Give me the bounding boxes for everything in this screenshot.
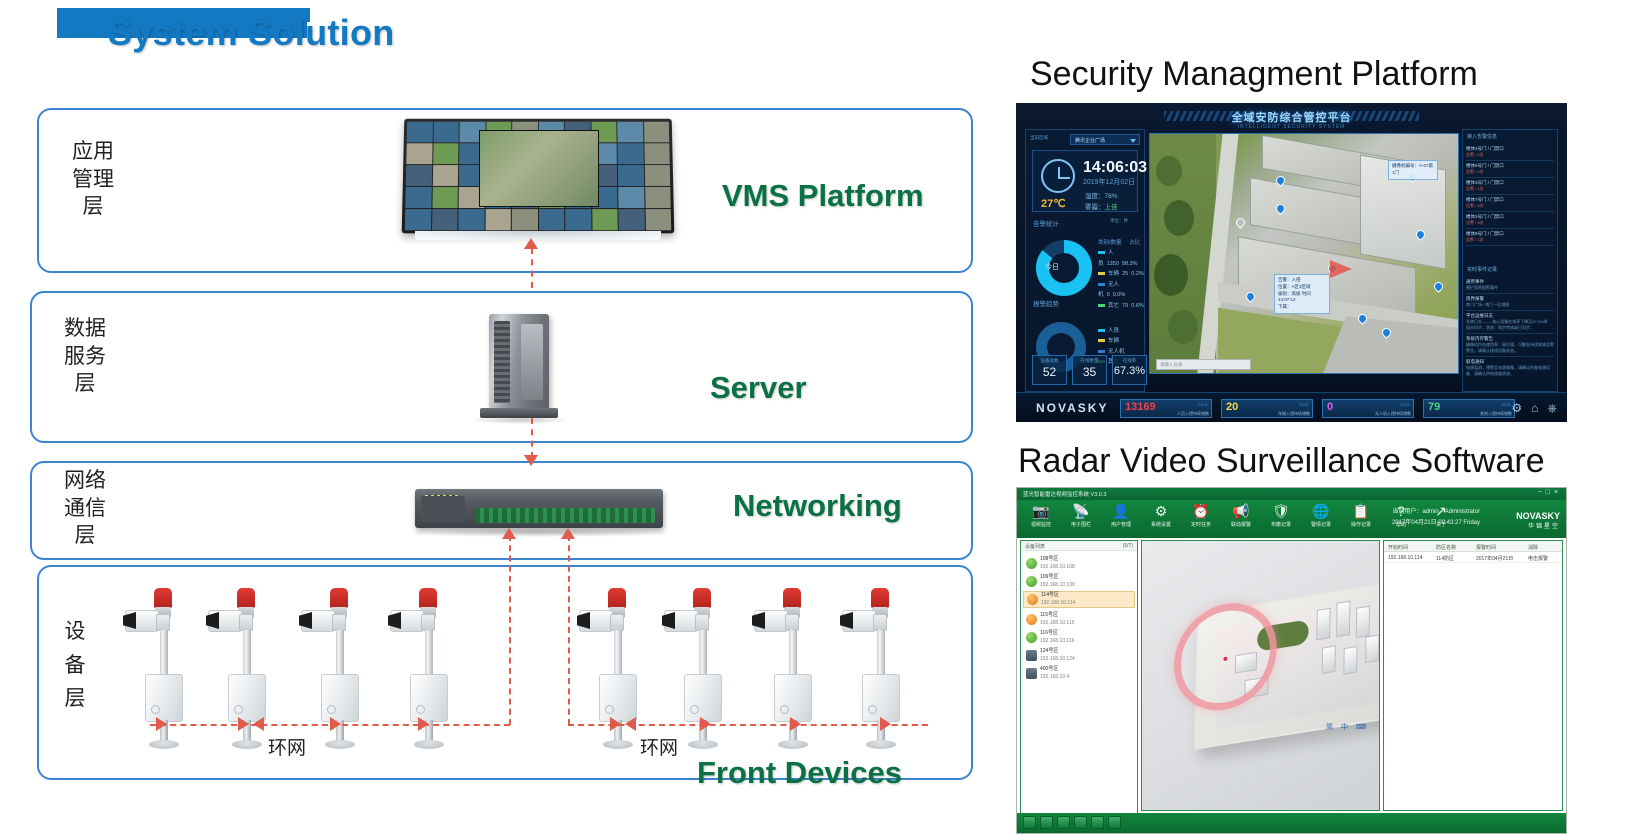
device-tree-count: (5/7) bbox=[1123, 543, 1133, 549]
toolbar-user-management[interactable]: 👤 用户管理 bbox=[1101, 503, 1141, 528]
rvs-user-info: 当前用户：admin，Administrator 2017年04月21日 09:… bbox=[1392, 507, 1480, 530]
smp-temperature: 27℃ bbox=[1041, 197, 1066, 210]
camera-mount bbox=[156, 614, 170, 631]
smp-humidity: 湿度：78% bbox=[1085, 190, 1118, 200]
smp-air-label: 雾霾： bbox=[1085, 204, 1105, 211]
camera-pole-upper bbox=[243, 630, 251, 677]
arrow-right-ring-left-b bbox=[156, 717, 167, 731]
device-offline-icon bbox=[1026, 650, 1037, 661]
stat-online-rate: 在线率 67.3% bbox=[1112, 355, 1147, 385]
alarm-beacon-icon bbox=[608, 588, 626, 608]
camera-mount bbox=[239, 614, 253, 631]
legend-item: 其它 79 0.6% bbox=[1098, 301, 1144, 311]
device-tree-row-selected[interactable]: 114号区192.168.10.114 bbox=[1023, 591, 1135, 608]
switch-port-row bbox=[475, 508, 655, 523]
arrow-right-ring-left-c bbox=[330, 717, 341, 731]
security-management-platform-heading: Security Managment Platform bbox=[1030, 55, 1478, 94]
device-tree-row[interactable]: 108号区192.168.10.108 bbox=[1023, 555, 1135, 572]
map-tree bbox=[1164, 200, 1194, 236]
alarm-beacon-icon bbox=[693, 588, 711, 608]
smp-clock-panel: 14:06:03 2019年12月02日 27℃ 湿度：78% 雾霾：上佳 bbox=[1032, 150, 1138, 212]
camera-mount bbox=[610, 614, 624, 631]
smp-region-label: 当前区域 bbox=[1030, 135, 1048, 141]
event-row[interactable]: 周界报警 南门广场 / 南门一区域图 bbox=[1466, 294, 1554, 311]
col-start-time: 开始时间 bbox=[1384, 541, 1432, 551]
device-tree-row[interactable]: 109号区192.168.10.109 bbox=[1023, 573, 1135, 590]
alert-row[interactable]: 楼体2号门 / 门禁口 告警 / 3次 bbox=[1466, 212, 1554, 229]
model-block bbox=[1322, 645, 1336, 674]
arrow-left-ring-right-a bbox=[625, 717, 636, 731]
status-button[interactable] bbox=[1023, 816, 1036, 829]
alert-row[interactable]: 楼体3号门 / 门禁口 告警 / 1次 bbox=[1466, 178, 1554, 195]
alert-row[interactable]: 楼体7号门 / 门禁口 告警 / 6次 bbox=[1466, 195, 1554, 212]
connector-switch-left-branch bbox=[509, 535, 511, 725]
stat-online-devices: 在线数量 35 bbox=[1072, 355, 1107, 385]
camera-pole bbox=[840, 588, 904, 753]
smp-region-dropdown[interactable]: 腾讯企业广场 bbox=[1070, 134, 1140, 145]
camera-control-box bbox=[684, 674, 722, 722]
camera-base bbox=[603, 740, 633, 749]
report-icon: 📋 bbox=[1341, 503, 1381, 519]
server-label: Server bbox=[710, 370, 807, 406]
camera-pole-upper bbox=[789, 630, 797, 677]
toolbar-scheduled-task[interactable]: ⏰ 定时任务 bbox=[1181, 503, 1221, 528]
status-bar-buttons[interactable] bbox=[1023, 816, 1121, 829]
device-offline-icon bbox=[1026, 668, 1037, 679]
connector-app-to-data bbox=[531, 248, 533, 288]
toolbar-operation-log[interactable]: 📋 操作记录 bbox=[1341, 503, 1381, 528]
radar-icon: 📡 bbox=[1061, 503, 1101, 519]
server-image bbox=[489, 314, 549, 410]
arrow-right-ring-right-c bbox=[790, 717, 801, 731]
toolbar-system-settings[interactable]: ⚙ 系统设置 bbox=[1141, 503, 1181, 528]
data-layer-label: 数据 服务 层 bbox=[52, 315, 118, 398]
alarm-beacon-icon bbox=[783, 588, 801, 608]
rvs-current-datetime: 2017年04月21日 09:43:27 Friday bbox=[1392, 518, 1480, 529]
ime-indicator: 简 中 ⌨ bbox=[1326, 722, 1369, 732]
server-shadow bbox=[470, 416, 570, 424]
smp-footer-bar: NOVASKY 13169 000 人员入侵持续增数 20 000 车辆入侵持续… bbox=[1016, 392, 1567, 422]
alarm-beacon-icon bbox=[237, 588, 255, 608]
model-block bbox=[1316, 608, 1330, 641]
rvs-status-bar bbox=[1017, 813, 1566, 833]
rvs-brand-cn: 华锦星空 bbox=[1516, 523, 1560, 531]
rvs-current-user: 当前用户：admin，Administrator bbox=[1392, 507, 1480, 518]
gear-icon[interactable]: ⚙ bbox=[1511, 401, 1522, 416]
legend-item: 无人机 0 0.0% bbox=[1098, 280, 1144, 301]
toolbar-alarm-log[interactable]: 🌐 警情记录 bbox=[1301, 503, 1341, 528]
smp-alert-list: 楼体4号门 / 门禁口 告警 / 4次 楼体5号门 / 门禁口 告警 / 2次 … bbox=[1466, 144, 1554, 246]
status-button[interactable] bbox=[1091, 816, 1104, 829]
rvs-window-title: 蓝光智能雷达视频监控系统 V3.0.3 bbox=[1023, 490, 1106, 498]
3d-building-model bbox=[1164, 540, 1380, 780]
network-layer-label: 网络 通信 层 bbox=[52, 467, 118, 550]
smp-event-panel-title: 实时事件记录 bbox=[1467, 266, 1497, 273]
toolbar-video-monitor[interactable]: 📷 视频监控 bbox=[1021, 503, 1061, 528]
smp-alarm-stats-unit: 单位：件 bbox=[1110, 218, 1128, 224]
smp-alert-panel-title: 接入告警信息 bbox=[1467, 133, 1497, 140]
device-tree-row[interactable]: 400号区192.168.10.4 bbox=[1023, 665, 1135, 682]
status-button[interactable] bbox=[1057, 816, 1070, 829]
radar-video-surveillance-screenshot: 蓝光智能雷达视频监控系统 V3.0.3 −□× 📷 视频监控 📡 电子围栏 👤 … bbox=[1016, 487, 1567, 834]
arrow-right-ring-right-b bbox=[700, 717, 711, 731]
alarm-icon: ⏰ bbox=[1181, 503, 1221, 519]
smp-time: 14:06:03 bbox=[1083, 159, 1147, 177]
map-pin-device[interactable] bbox=[1234, 216, 1247, 229]
alarm-beacon-icon bbox=[154, 588, 172, 608]
device-online-icon bbox=[1026, 576, 1037, 587]
application-layer-label: 应用 管理 层 bbox=[60, 138, 126, 221]
globe-icon: 🌐 bbox=[1301, 503, 1341, 519]
camera-mount bbox=[785, 614, 799, 631]
map-alert-tooltip: 告警：入侵 位置：A区3区域 级别：高级 时间14:07:12 下属： bbox=[1274, 274, 1330, 314]
vms-platform-label: VMS Platform bbox=[722, 178, 924, 214]
camera-control-box bbox=[774, 674, 812, 722]
home-icon[interactable]: ⌂ bbox=[1531, 401, 1538, 416]
col-clear: 消除 bbox=[1524, 541, 1556, 551]
arrow-right-ring-left-a bbox=[238, 717, 249, 731]
smp-event-list: 通用事件 围栏周界报警事件 周界报警 南门广场 / 南门一区域图 平台运维日志 … bbox=[1466, 277, 1554, 379]
camera-control-box bbox=[410, 674, 448, 722]
legend-item: 车辆 bbox=[1098, 336, 1125, 346]
table-row[interactable]: 192.168.10.114 114防区 2017年04月21日 电击报警 bbox=[1384, 552, 1562, 563]
device-online-icon bbox=[1026, 632, 1037, 643]
rvs-brand-en: NOVASKY bbox=[1516, 511, 1560, 521]
smp-right-panel: 接入告警信息 楼体4号门 / 门禁口 告警 / 4次 楼体5号门 / 门禁口 告… bbox=[1462, 129, 1558, 392]
camera-pole-upper bbox=[425, 630, 433, 677]
ring-bus-right bbox=[568, 724, 928, 726]
counter-vehicle-intrusion: 20 000 车辆入侵持续增数 bbox=[1221, 399, 1313, 418]
map-detection-cone bbox=[1330, 260, 1352, 278]
arrow-up-switch-right bbox=[561, 528, 575, 539]
col-zone-name: 防区名称 bbox=[1432, 541, 1472, 551]
camera-pole bbox=[752, 588, 816, 753]
ring-network-label-right: 环网 bbox=[637, 733, 681, 760]
radar-video-surveillance-heading: Radar Video Surveillance Software bbox=[1018, 442, 1545, 481]
event-row[interactable]: 通用事件 围栏周界报警事件 bbox=[1466, 277, 1554, 294]
smp-device-stats: 设备总数 52 在线数量 35 在线率 67.3% bbox=[1032, 355, 1147, 385]
page-title: System Solution bbox=[108, 12, 395, 54]
connector-switch-right-branch bbox=[568, 535, 570, 725]
rvs-brand-logo: NOVASKY 华锦星空 bbox=[1516, 510, 1560, 531]
arrow-right-ring-right-a bbox=[610, 717, 621, 731]
smp-trend-title: 报警趋势 bbox=[1033, 298, 1059, 308]
alarm-beacon-icon bbox=[419, 588, 437, 608]
camera-base bbox=[688, 740, 718, 749]
toolbar-linked-alarm[interactable]: 📢 联动报警 bbox=[1221, 503, 1261, 528]
model-block bbox=[1356, 606, 1370, 639]
toolbar-electronic-fence[interactable]: 📡 电子围栏 bbox=[1061, 503, 1101, 528]
device-tree-row[interactable]: 124号区192.168.10.124 bbox=[1023, 647, 1135, 664]
camera-base bbox=[232, 740, 262, 749]
legend-header-name: 类别/数量 bbox=[1098, 240, 1122, 246]
model-block bbox=[1365, 634, 1379, 663]
legend-header: 类别/数量 占比 bbox=[1098, 238, 1144, 248]
model-block bbox=[1343, 646, 1357, 675]
device-tree-row[interactable]: 116号区192.168.10.116 bbox=[1023, 629, 1135, 646]
broadcast-icon: 📢 bbox=[1221, 503, 1261, 519]
map-camera-tooltip: 摄像机编号：A-07第1门 bbox=[1388, 160, 1438, 180]
alarm-beacon-icon bbox=[871, 588, 889, 608]
ring-network-label-left: 环网 bbox=[265, 733, 309, 760]
alert-row[interactable]: 楼体4号门 / 门禁口 告警 / 4次 bbox=[1466, 144, 1554, 161]
smp-date: 2019年12月02日 bbox=[1083, 177, 1135, 187]
map-tree bbox=[1154, 254, 1188, 296]
network-switch-image bbox=[415, 489, 663, 528]
stat-total-devices: 设备总数 52 bbox=[1032, 355, 1067, 385]
smp-device-search-input[interactable]: 请输入设备 bbox=[1156, 359, 1251, 370]
device-tree-title: 设备列表 bbox=[1025, 544, 1045, 550]
smp-title: 全域安防综合管控平台 bbox=[1016, 109, 1567, 125]
rvs-device-tree[interactable]: 设备列表 (5/7) 108号区192.168.10.108 109号区192.… bbox=[1020, 540, 1138, 830]
slide-root: System Solution 应用 管理 层 数据 服务 层 网络 通信 层 … bbox=[0, 0, 1632, 834]
event-row[interactable]: 平台运维日志 系统日志 —— 核心设备在线率下降至67.3%时 段内同步，状态：… bbox=[1466, 311, 1554, 334]
camera-pole bbox=[662, 588, 726, 753]
legend-header-pct: 占比 bbox=[1129, 240, 1140, 246]
window-controls[interactable]: −□× bbox=[1538, 489, 1562, 496]
camera-control-box bbox=[599, 674, 637, 722]
arrow-up-app bbox=[524, 238, 538, 249]
device-tree-header: 设备列表 (5/7) bbox=[1021, 541, 1137, 551]
camera-base bbox=[866, 740, 896, 749]
device-tree-row[interactable]: 115号区192.168.10.115 bbox=[1023, 611, 1135, 628]
smp-air-value: 上佳 bbox=[1105, 204, 1118, 211]
model-block bbox=[1336, 601, 1350, 638]
event-row[interactable]: 取电通知 电源监测，预警至电源故障，请确认检查电源设 备、请确认供电线路状态。 bbox=[1466, 357, 1554, 379]
settings-icon: ⚙ bbox=[1141, 503, 1181, 519]
clock-icon bbox=[1041, 159, 1075, 193]
smp-search-placeholder: 请输入设备 bbox=[1157, 360, 1250, 368]
chevron-down-icon bbox=[1130, 139, 1136, 143]
device-online-icon bbox=[1026, 558, 1037, 569]
camera-mount bbox=[332, 614, 346, 631]
status-button[interactable] bbox=[1040, 816, 1053, 829]
rvs-alarm-table[interactable]: 开始时间 防区名称 报警时间 消除 192.168.10.114 114防区 2… bbox=[1383, 540, 1563, 811]
camera-base bbox=[149, 740, 179, 749]
power-icon[interactable]: ⎈ bbox=[1547, 401, 1557, 416]
shield-icon: 🛡 bbox=[1261, 503, 1301, 519]
camera-base bbox=[778, 740, 808, 749]
toolbar-arm-disarm-log[interactable]: 🛡 布撤记录 bbox=[1261, 503, 1301, 528]
smp-footer-icons: ⚙ ⌂ ⎈ bbox=[1511, 401, 1557, 416]
map-plaza bbox=[1314, 316, 1459, 374]
alert-row[interactable]: 楼体9号门 / 门禁口 告警 / 1次 bbox=[1466, 229, 1554, 246]
arrow-left-ring-left-a bbox=[253, 717, 264, 731]
camera-icon: 📷 bbox=[1021, 503, 1061, 519]
smp-air-quality: 雾霾：上佳 bbox=[1085, 201, 1118, 211]
arrow-right-ring-left-d bbox=[418, 717, 429, 731]
video-wall-image bbox=[402, 119, 675, 234]
camera-pole-upper bbox=[614, 630, 622, 677]
camera-control-box bbox=[862, 674, 900, 722]
camera-mount bbox=[421, 614, 435, 631]
counter-other-intrusion: 79 000 其他入侵持续增数 bbox=[1423, 399, 1515, 418]
smp-donut-center-label: 今日 bbox=[1045, 262, 1059, 272]
camera-control-box bbox=[228, 674, 266, 722]
legend-item: 车辆 25 0.2% bbox=[1098, 269, 1144, 279]
switch-console-panel bbox=[421, 496, 465, 522]
device-warning-icon bbox=[1026, 614, 1037, 625]
smp-left-panel: 当前区域 腾讯企业广场 14:06:03 2019年12月02日 27℃ 湿度：… bbox=[1025, 129, 1145, 392]
arrow-right-ring-right-d bbox=[880, 717, 891, 731]
counter-person-intrusion: 13169 000 人员入侵持续增数 bbox=[1120, 399, 1212, 418]
smp-map-view[interactable]: 告警：入侵 位置：A区3区域 级别：高级 时间14:07:12 下属： 摄像机编… bbox=[1149, 133, 1459, 374]
alert-row[interactable]: 楼体5号门 / 门禁口 告警 / 2次 bbox=[1466, 161, 1554, 178]
status-button[interactable] bbox=[1108, 816, 1121, 829]
smp-alarm-stats-title: 告警统计 bbox=[1033, 218, 1059, 228]
rvs-toolbar: 📷 视频监控 📡 电子围栏 👤 用户管理 ⚙ 系统设置 ⏰ 定时任务 📢 联 bbox=[1017, 500, 1566, 538]
user-icon: 👤 bbox=[1101, 503, 1141, 519]
event-row[interactable]: 系统内存警告 摄像机内存使用率：高位值，可触发持续增减告警 警告，请确认接线设备… bbox=[1466, 334, 1554, 357]
camera-base bbox=[325, 740, 355, 749]
camera-control-box bbox=[321, 674, 359, 722]
legend-item: 人员 bbox=[1098, 326, 1125, 336]
camera-pole-upper bbox=[699, 630, 707, 677]
arrow-up-switch-left bbox=[502, 528, 516, 539]
networking-label: Networking bbox=[733, 488, 902, 524]
camera-mount bbox=[695, 614, 709, 631]
map-tree bbox=[1156, 156, 1182, 186]
front-devices-label: Front Devices bbox=[697, 755, 902, 791]
camera-pole bbox=[123, 588, 187, 753]
table-header-row: 开始时间 防区名称 报警时间 消除 bbox=[1384, 541, 1562, 552]
camera-pole-upper bbox=[877, 630, 885, 677]
smp-region-value: 腾讯企业广场 bbox=[1071, 135, 1139, 144]
map-pin-camera[interactable] bbox=[1432, 280, 1445, 293]
arrow-down-net bbox=[524, 455, 538, 466]
smp-brand-logo: NOVASKY bbox=[1036, 401, 1108, 415]
camera-base bbox=[414, 740, 444, 749]
smp-donut-legend: 类别/数量 占比 人员 1350 98.3% 车辆 25 0.2% 无人机 0 … bbox=[1098, 238, 1144, 311]
alarm-beacon-icon bbox=[330, 588, 348, 608]
camera-pole-upper bbox=[160, 630, 168, 677]
camera-mount bbox=[873, 614, 887, 631]
connector-data-to-net bbox=[531, 418, 533, 458]
rvs-title-bar: 蓝光智能雷达视频监控系统 V3.0.3 −□× bbox=[1017, 488, 1566, 500]
security-management-platform-screenshot: 全域安防综合管控平台 INTELLIGENT SECURITY SYSTEM 当… bbox=[1016, 103, 1567, 422]
rvs-3d-scene-view[interactable]: 简 中 ⌨ bbox=[1141, 540, 1380, 811]
map-tree bbox=[1168, 310, 1198, 344]
device-layer-label: 设 备 层 bbox=[55, 615, 95, 716]
counter-drone-intrusion: 0 000 无人机入侵持续增数 bbox=[1322, 399, 1414, 418]
device-selected-icon bbox=[1027, 594, 1038, 605]
switch-shadow bbox=[405, 528, 673, 537]
status-button[interactable] bbox=[1074, 816, 1087, 829]
legend-item: 人员 1350 98.3% bbox=[1098, 248, 1144, 269]
camera-control-box bbox=[145, 674, 183, 722]
col-alarm-time: 报警时间 bbox=[1472, 541, 1524, 551]
video-wall-base bbox=[415, 231, 661, 240]
camera-pole-upper bbox=[336, 630, 344, 677]
